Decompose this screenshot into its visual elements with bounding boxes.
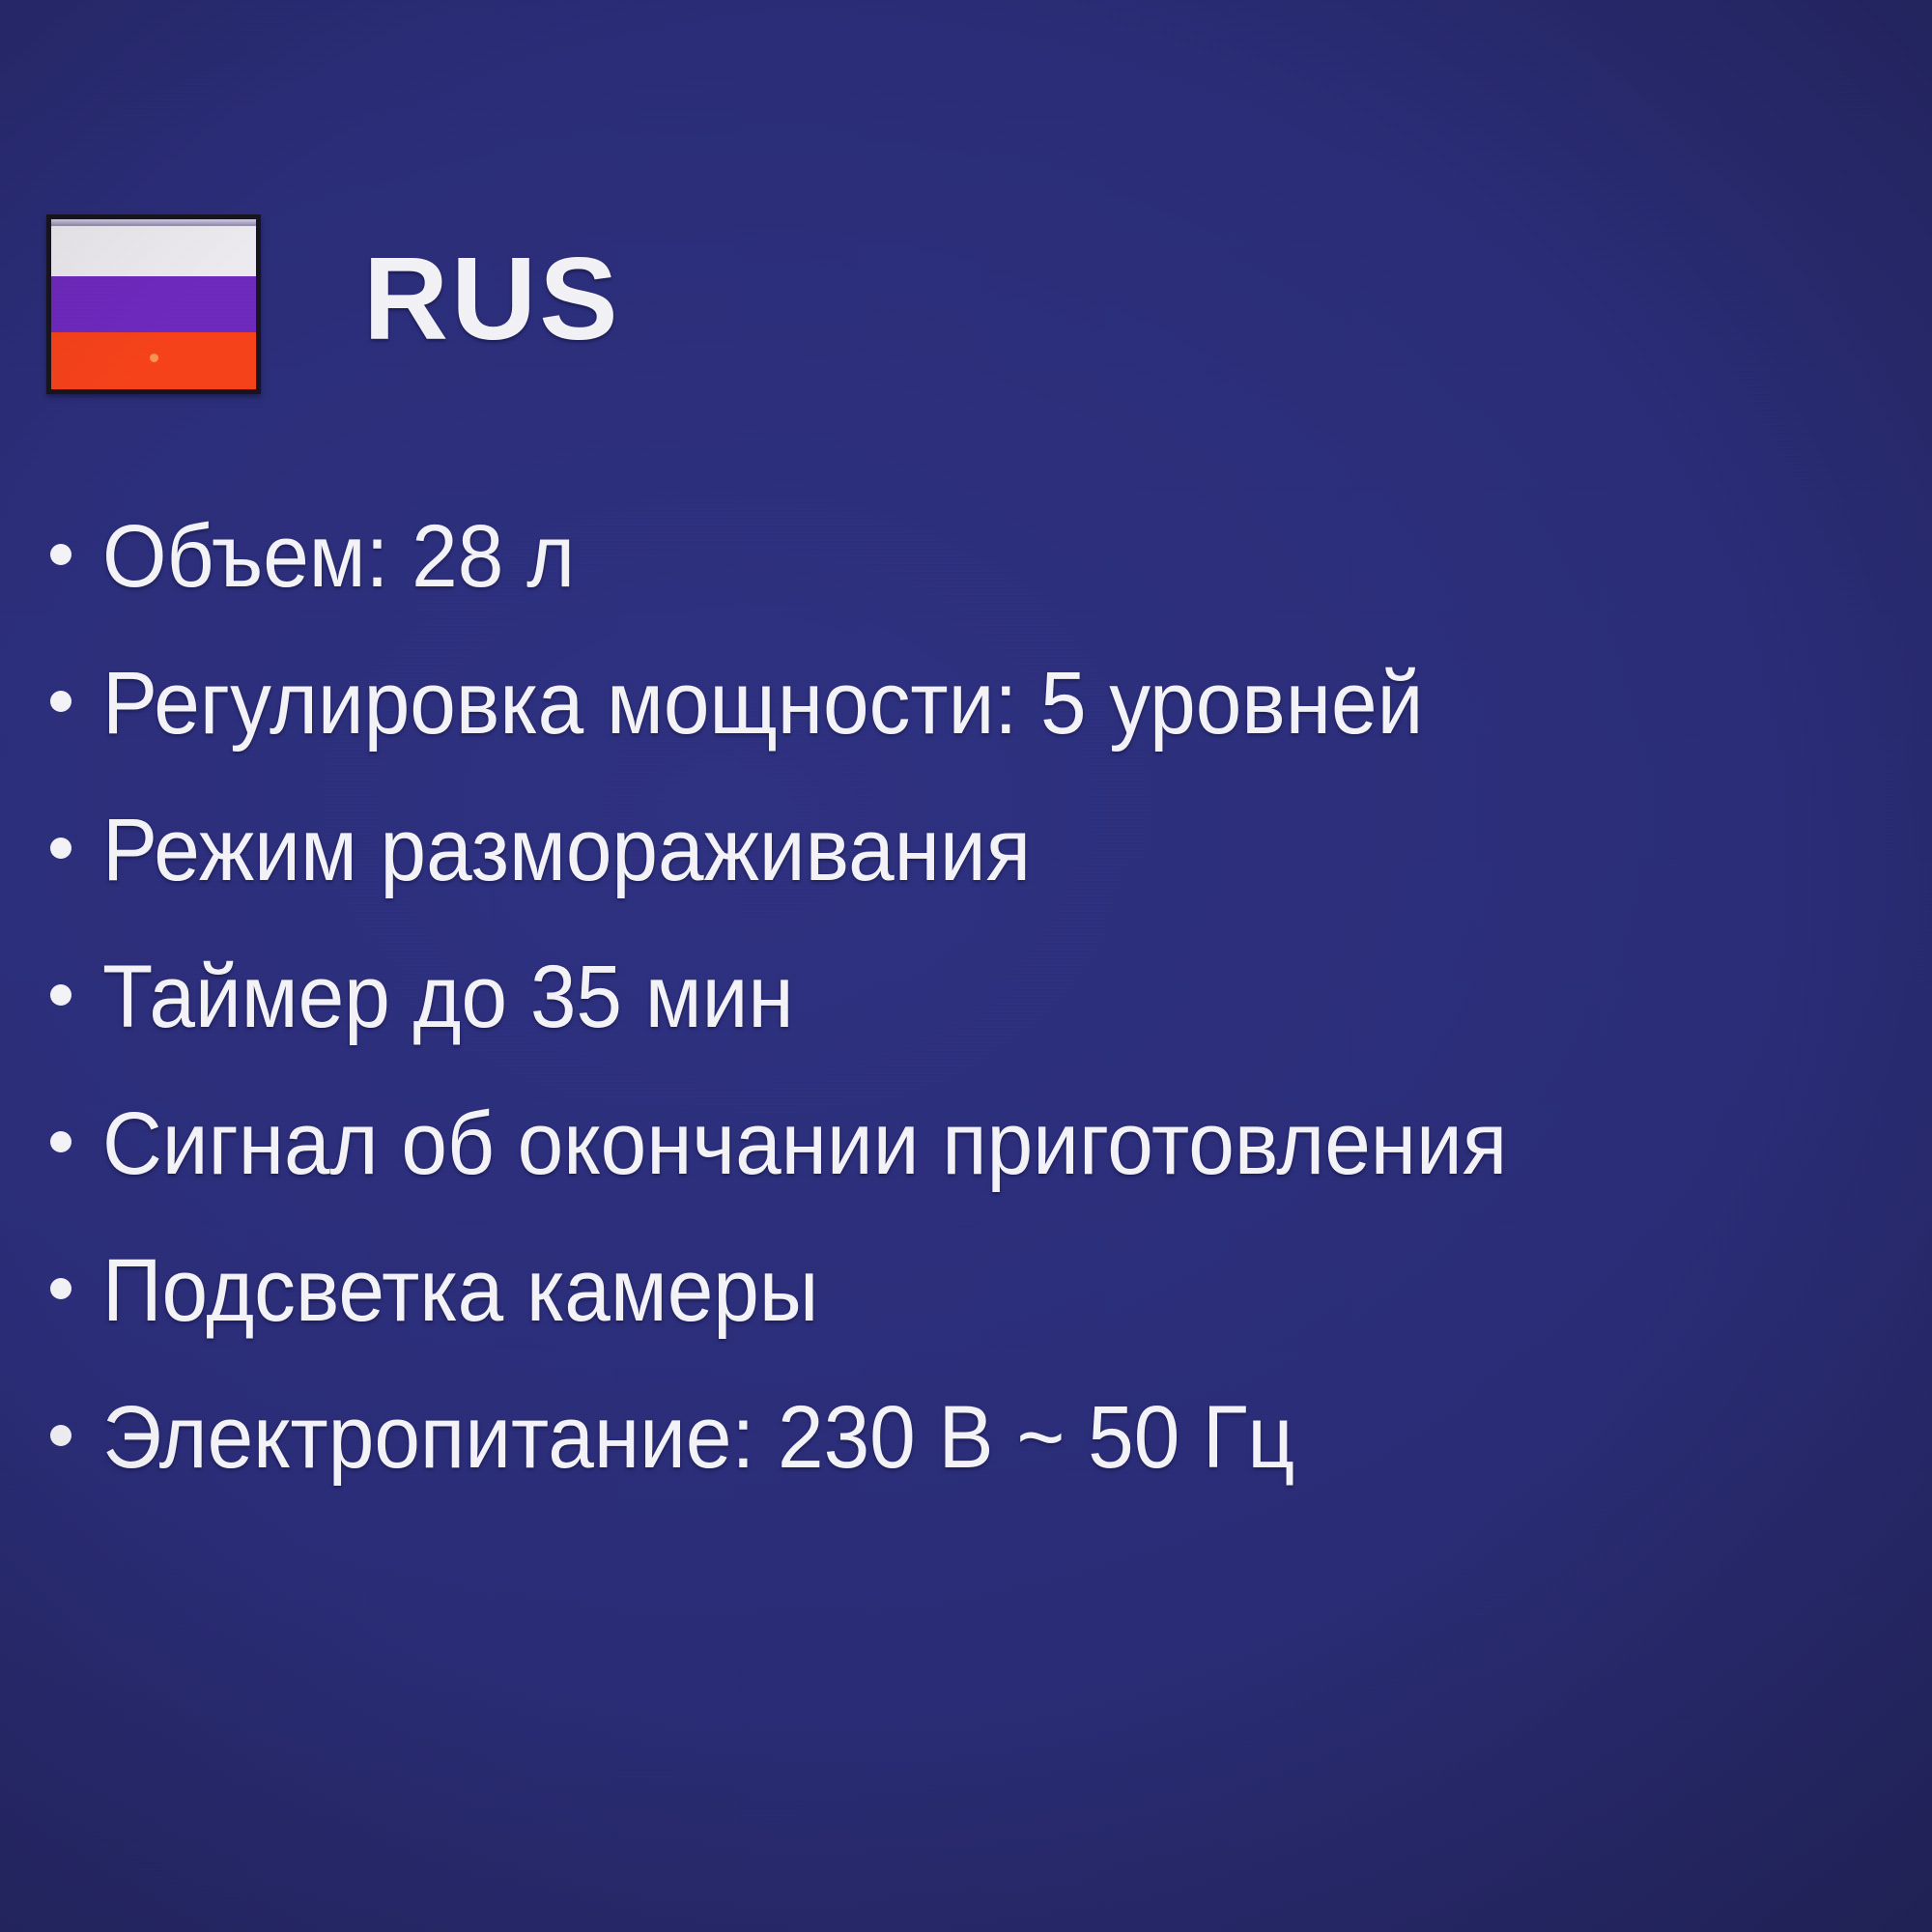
spec-label: Электропитание: 230 В ~ 50 Гц (102, 1393, 1294, 1482)
list-item: Объем: 28 л (50, 512, 1886, 659)
bullet-dot-icon (50, 1278, 71, 1299)
list-item: Электропитание: 230 В ~ 50 Гц (50, 1393, 1886, 1540)
spec-label: Подсветка камеры (102, 1246, 818, 1335)
list-item: Таймер до 35 мин (50, 952, 1886, 1099)
russian-flag-icon (46, 214, 261, 394)
list-item: Регулировка мощности: 5 уровней (50, 659, 1886, 806)
flag-speck (150, 354, 158, 362)
spec-label: Таймер до 35 мин (102, 952, 794, 1041)
list-item: Режим размораживания (50, 806, 1886, 952)
spec-label: Регулировка мощности: 5 уровней (102, 659, 1423, 748)
flag-band-white (51, 219, 256, 276)
language-header: RUS (46, 214, 621, 394)
spec-label: Объем: 28 л (102, 512, 575, 601)
bullet-dot-icon (50, 544, 71, 565)
language-code-label: RUS (363, 240, 621, 357)
bullet-dot-icon (50, 1131, 71, 1152)
specification-list: Объем: 28 л Регулировка мощности: 5 уров… (50, 512, 1886, 1540)
list-item: Сигнал об окончании приготовления (50, 1099, 1886, 1246)
list-item: Подсветка камеры (50, 1246, 1886, 1393)
flag-band-blue (51, 276, 256, 333)
flag-top-highlight (47, 214, 260, 226)
spec-label: Режим размораживания (102, 806, 1031, 895)
bullet-dot-icon (50, 838, 71, 859)
product-spec-panel: RUS Объем: 28 л Регулировка мощности: 5 … (0, 0, 1932, 1932)
bullet-dot-icon (50, 691, 71, 712)
bullet-dot-icon (50, 1425, 71, 1446)
bullet-dot-icon (50, 984, 71, 1006)
spec-label: Сигнал об окончании приготовления (102, 1099, 1507, 1188)
